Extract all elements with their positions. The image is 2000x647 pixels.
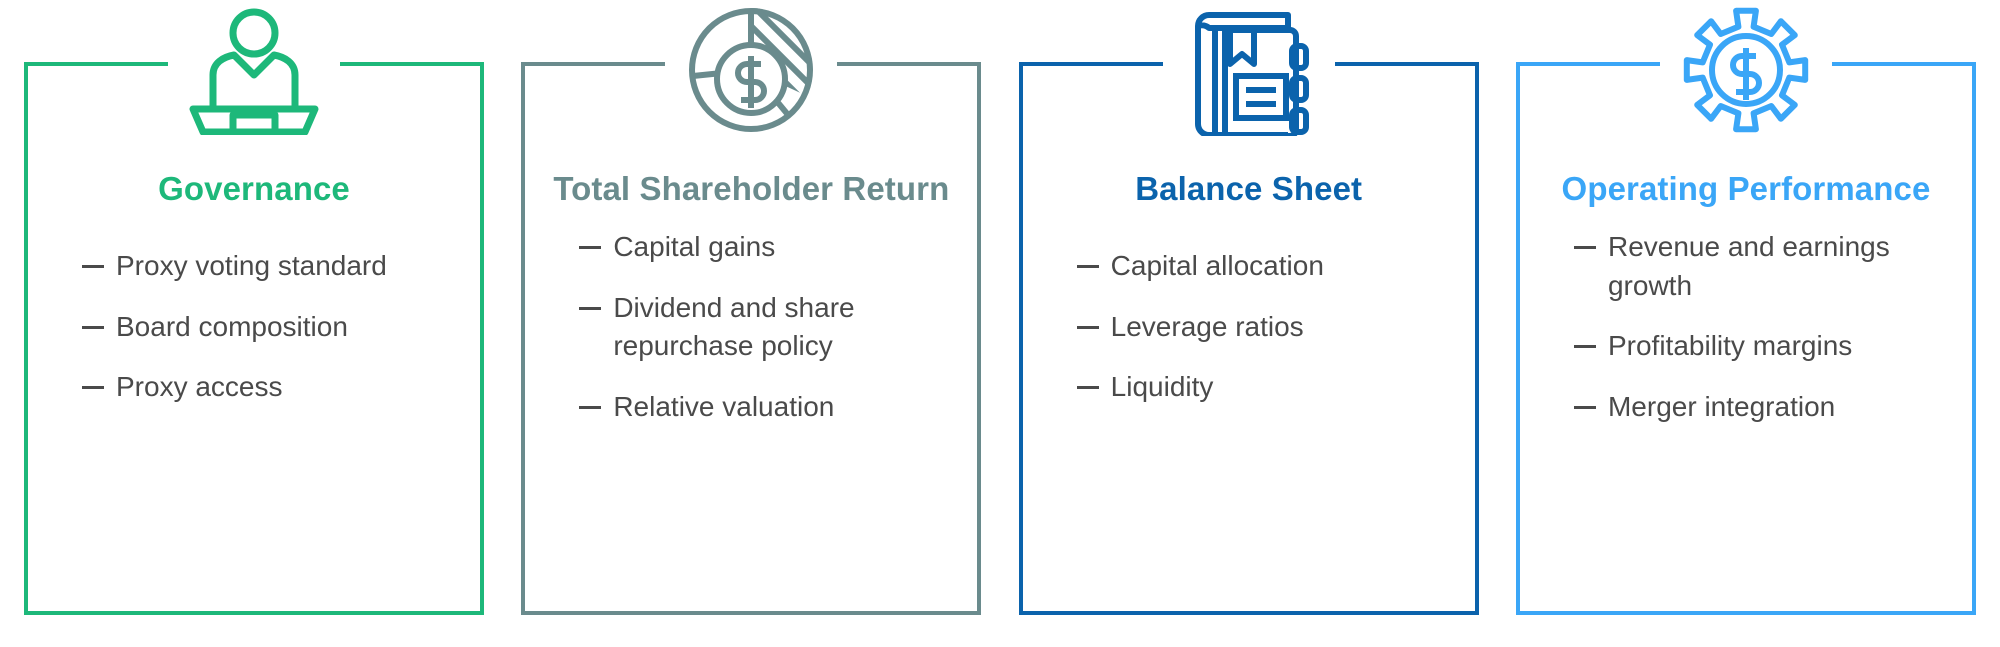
em-dash-icon	[579, 246, 601, 249]
list-item: Liquidity	[1077, 368, 1449, 407]
card-title-governance: Governance	[54, 170, 454, 209]
em-dash-icon	[1574, 406, 1596, 409]
em-dash-icon	[1574, 345, 1596, 348]
card-body-governance: GovernanceProxy voting standardBoard com…	[24, 62, 484, 429]
list-item-label: Capital allocation	[1111, 247, 1449, 286]
list-item: Board composition	[82, 308, 454, 347]
list-item: Leverage ratios	[1077, 308, 1449, 347]
card-balance-sheet: Balance SheetCapital allocationLeverage …	[1019, 62, 1479, 615]
em-dash-icon	[82, 326, 104, 329]
infographic-board: GovernanceProxy voting standardBoard com…	[0, 0, 2000, 647]
card-border-bottom	[521, 611, 981, 615]
list-item: Capital gains	[579, 228, 951, 267]
card-body-total-shareholder-return: Total Shareholder ReturnCapital gainsDiv…	[521, 62, 981, 448]
em-dash-icon	[82, 386, 104, 389]
em-dash-icon	[1077, 326, 1099, 329]
card-body-operating-performance: Operating PerformanceRevenue and earning…	[1516, 62, 1976, 448]
list-item: Dividend and share repurchase policy	[579, 289, 951, 366]
bullet-list-operating-performance: Revenue and earnings growthProfitability…	[1546, 228, 1946, 427]
em-dash-icon	[1077, 265, 1099, 268]
list-item: Profitability margins	[1574, 327, 1946, 366]
list-item-label: Proxy access	[116, 368, 454, 407]
em-dash-icon	[1574, 246, 1596, 249]
list-item: Relative valuation	[579, 388, 951, 427]
card-border-bottom	[1019, 611, 1479, 615]
em-dash-icon	[579, 307, 601, 310]
em-dash-icon	[1077, 386, 1099, 389]
card-title-balance-sheet: Balance Sheet	[1049, 170, 1449, 209]
list-item-label: Merger integration	[1608, 388, 1946, 427]
card-border-bottom	[24, 611, 484, 615]
list-item-label: Capital gains	[613, 228, 951, 267]
list-item: Revenue and earnings growth	[1574, 228, 1946, 305]
bullet-list-governance: Proxy voting standardBoard compositionPr…	[54, 247, 454, 407]
list-item-label: Leverage ratios	[1111, 308, 1449, 347]
card-border-bottom	[1516, 611, 1976, 615]
list-item-label: Profitability margins	[1608, 327, 1946, 366]
list-item-label: Dividend and share repurchase policy	[613, 289, 951, 366]
list-item: Capital allocation	[1077, 247, 1449, 286]
list-item: Merger integration	[1574, 388, 1946, 427]
list-item-label: Relative valuation	[613, 388, 951, 427]
list-item-label: Board composition	[116, 308, 454, 347]
card-operating-performance: Operating PerformanceRevenue and earning…	[1516, 62, 1976, 615]
bullet-list-balance-sheet: Capital allocationLeverage ratiosLiquidi…	[1049, 247, 1449, 407]
card-governance: GovernanceProxy voting standardBoard com…	[24, 62, 484, 615]
card-total-shareholder-return: Total Shareholder ReturnCapital gainsDiv…	[521, 62, 981, 615]
card-title-total-shareholder-return: Total Shareholder Return	[551, 170, 951, 209]
list-item-label: Proxy voting standard	[116, 247, 454, 286]
list-item: Proxy voting standard	[82, 247, 454, 286]
list-item-label: Liquidity	[1111, 368, 1449, 407]
em-dash-icon	[82, 265, 104, 268]
list-item-label: Revenue and earnings growth	[1608, 228, 1946, 305]
card-title-operating-performance: Operating Performance	[1546, 170, 1946, 209]
em-dash-icon	[579, 406, 601, 409]
card-body-balance-sheet: Balance SheetCapital allocationLeverage …	[1019, 62, 1479, 429]
bullet-list-total-shareholder-return: Capital gainsDividend and share repurcha…	[551, 228, 951, 427]
list-item: Proxy access	[82, 368, 454, 407]
